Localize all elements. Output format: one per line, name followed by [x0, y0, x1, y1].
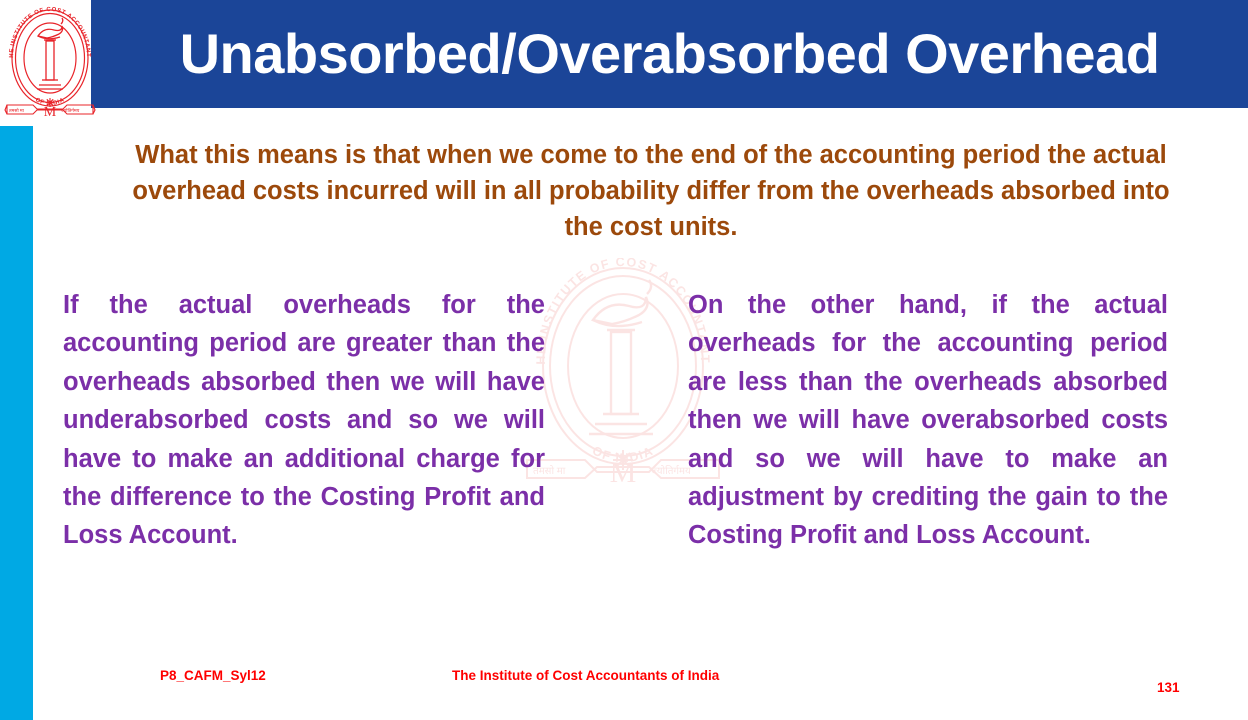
footer-course-code: P8_CAFM_Syl12 [160, 668, 266, 683]
column-overabsorbed: On the other hand, if the actual overhea… [688, 286, 1168, 555]
footer-page-number: 131 [1157, 680, 1180, 695]
svg-text:OF INDIA: OF INDIA [590, 444, 656, 466]
svg-text:M: M [610, 456, 637, 486]
title-bar: Unabsorbed/Overabsorbed Overhead [91, 0, 1248, 108]
svg-text:ज्योतिर्गमय: ज्योतिर्गमय [61, 107, 80, 113]
slide-canvas: Unabsorbed/Overabsorbed Overhead THE INS… [0, 0, 1248, 720]
left-accent-strip [0, 126, 33, 720]
institute-seal-logo: THE INSTITUTE OF COST ACCOUNTANTS OF IND… [4, 2, 96, 120]
column-underabsorbed: If the actual overheads for the accounti… [63, 286, 545, 555]
svg-text:M: M [44, 105, 57, 120]
footer-organisation: The Institute of Cost Accountants of Ind… [452, 668, 719, 683]
column-overabsorbed-text: On the other hand, if the actual overhea… [688, 286, 1168, 555]
intro-text: What this means is that when we come to … [123, 137, 1179, 246]
svg-text:तमसो मा: तमसो मा [9, 107, 25, 113]
page-title: Unabsorbed/Overabsorbed Overhead [180, 26, 1160, 82]
svg-text:THE INSTITUTE OF COST ACCOUNTA: THE INSTITUTE OF COST ACCOUNTANTS [523, 258, 712, 365]
column-underabsorbed-text: If the actual overheads for the accounti… [63, 286, 545, 555]
intro-paragraph: What this means is that when we come to … [123, 137, 1179, 246]
svg-text:ज्योतिर्गमय: ज्योतिर्गमय [651, 465, 691, 477]
